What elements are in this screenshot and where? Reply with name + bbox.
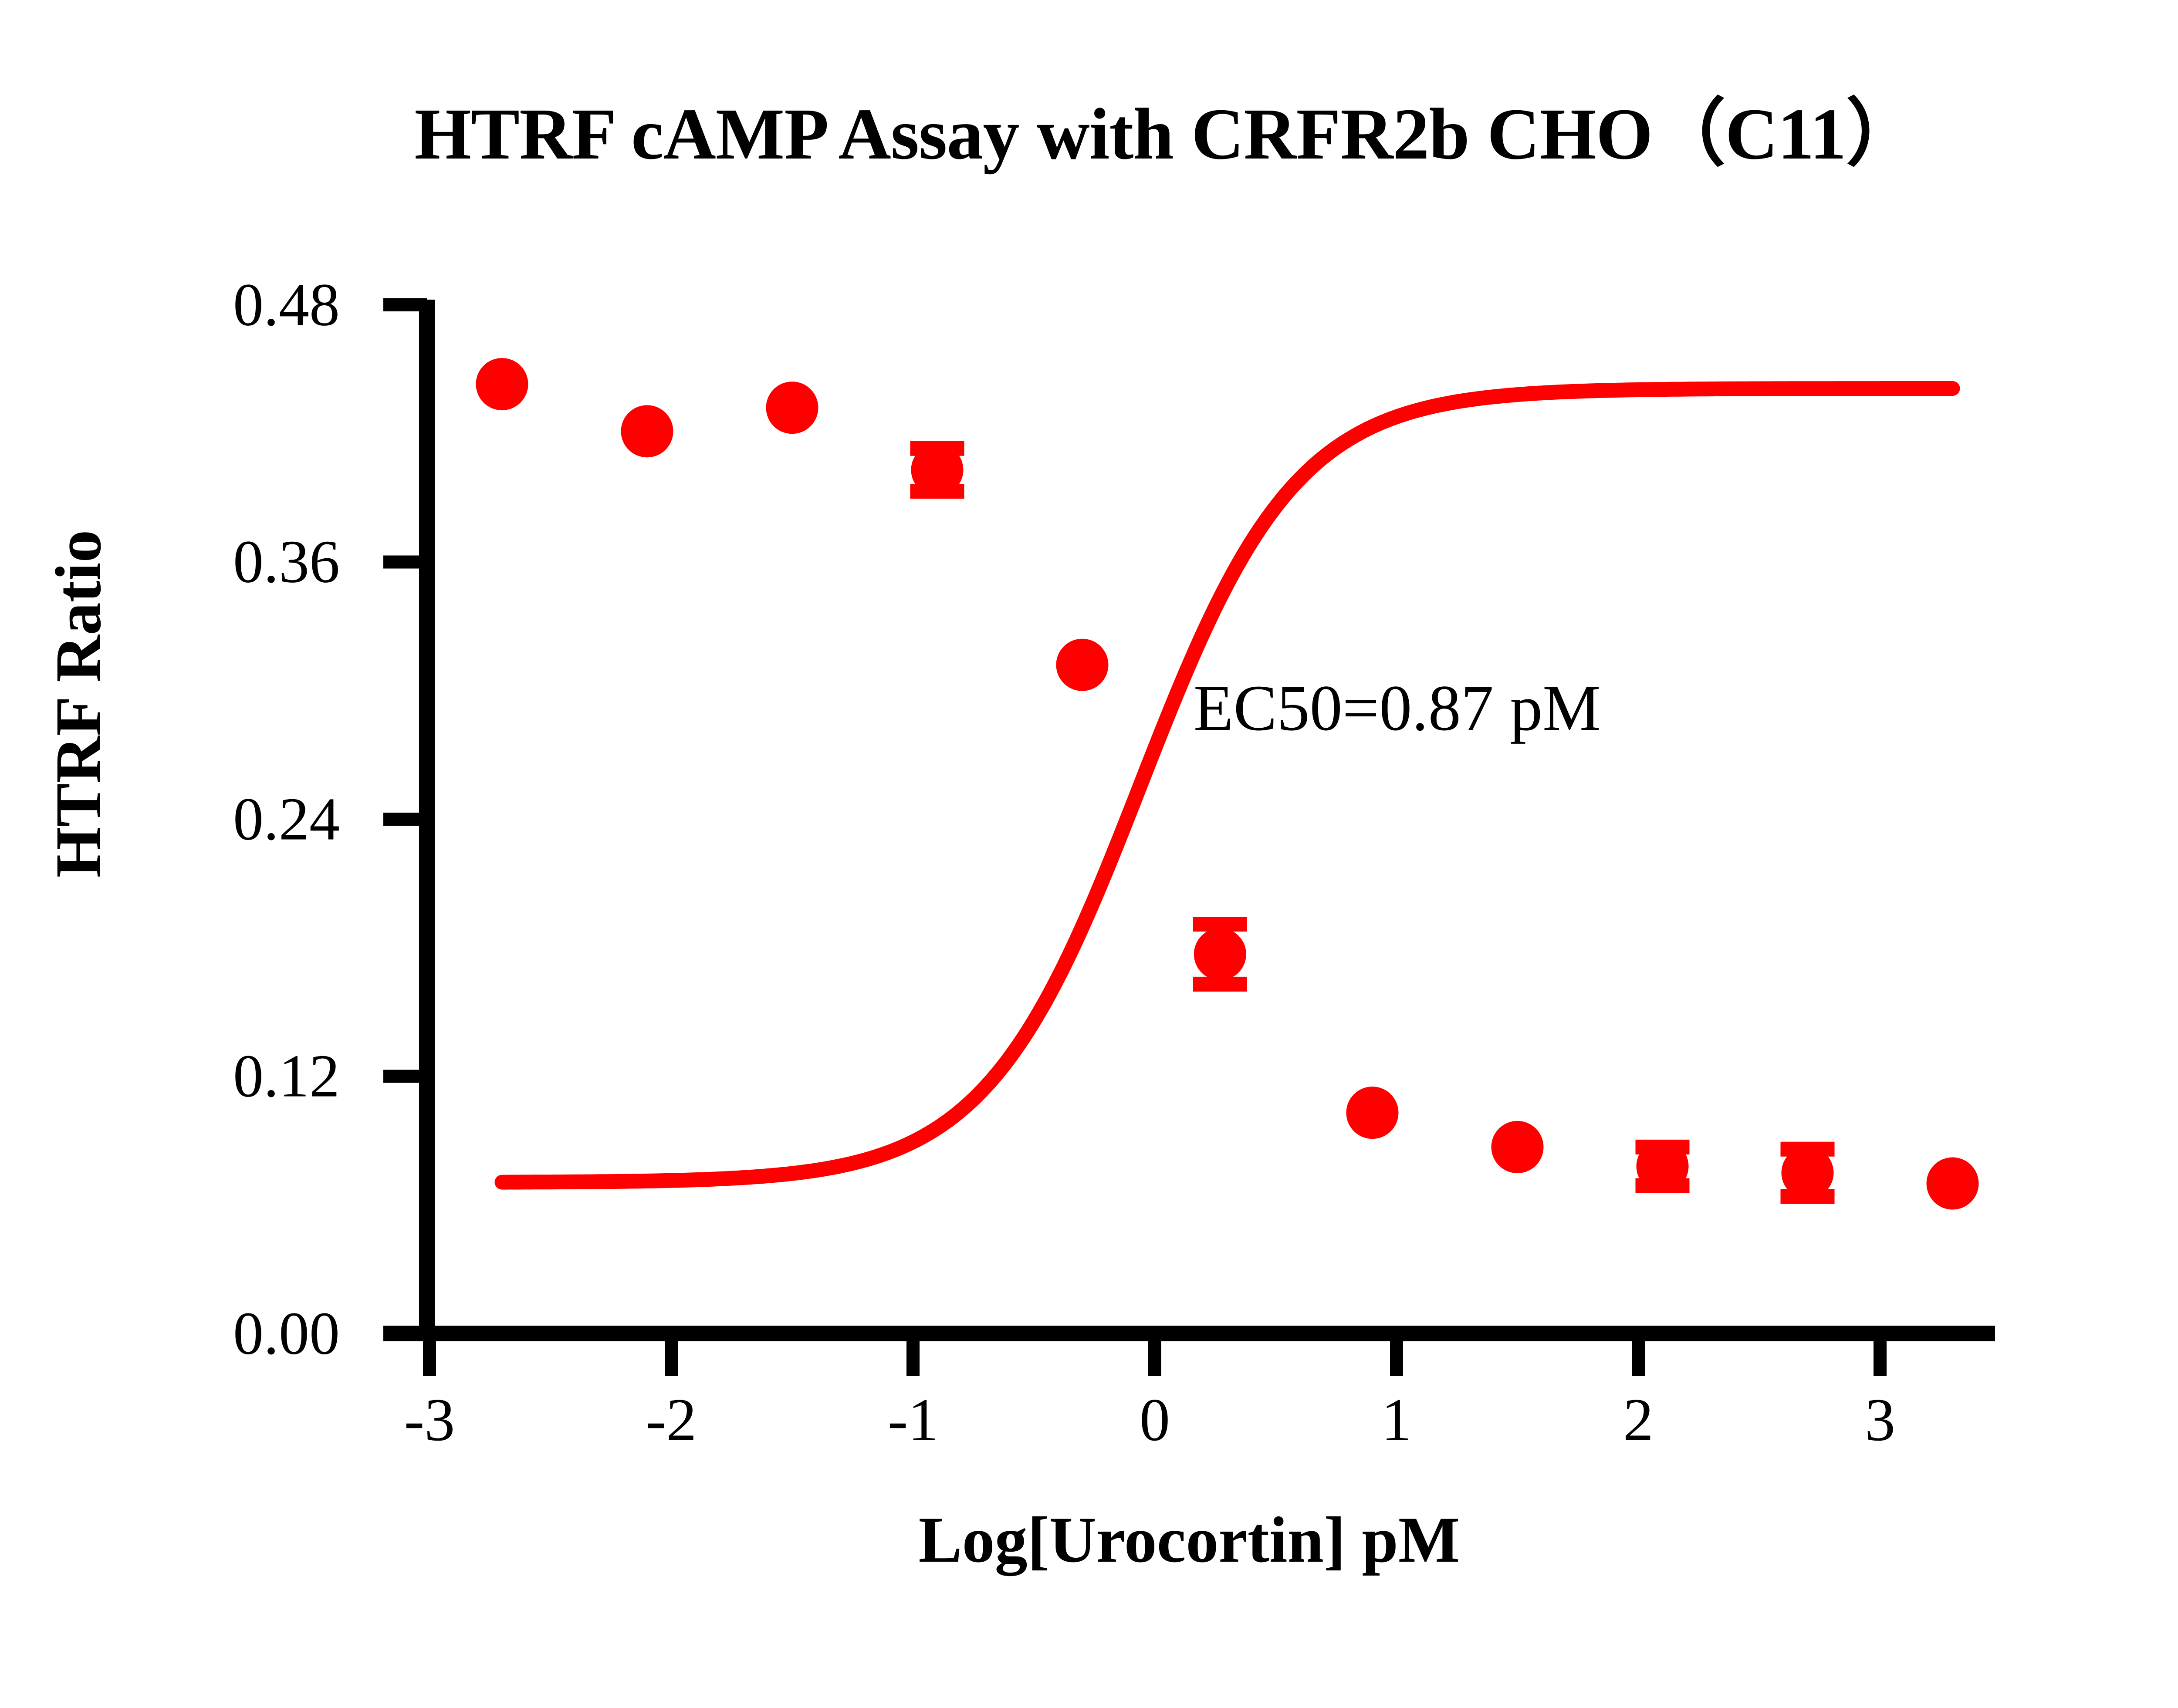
data-point-marker-7 xyxy=(1491,1121,1544,1173)
fit-curve-path xyxy=(502,388,1953,1182)
data-point-marker-10 xyxy=(1927,1158,1979,1210)
fit-curve xyxy=(502,388,1953,1182)
data-point-marker-0 xyxy=(476,358,528,410)
data-point-marker-4 xyxy=(1056,639,1109,691)
data-point-marker-3 xyxy=(911,444,964,496)
data-point-marker-9 xyxy=(1782,1147,1834,1199)
data-point-marker-1 xyxy=(621,405,673,457)
data-point-marker-8 xyxy=(1637,1140,1689,1192)
error-bars xyxy=(910,449,1835,1196)
data-points xyxy=(476,358,1979,1209)
data-point-marker-2 xyxy=(766,381,818,434)
plot-area xyxy=(0,0,2178,1708)
data-point-marker-6 xyxy=(1346,1087,1399,1139)
data-point-marker-5 xyxy=(1194,928,1246,980)
chart-figure: HTRF cAMP Assay with CRFR2b CHO（C11） HTR… xyxy=(0,0,2178,1708)
